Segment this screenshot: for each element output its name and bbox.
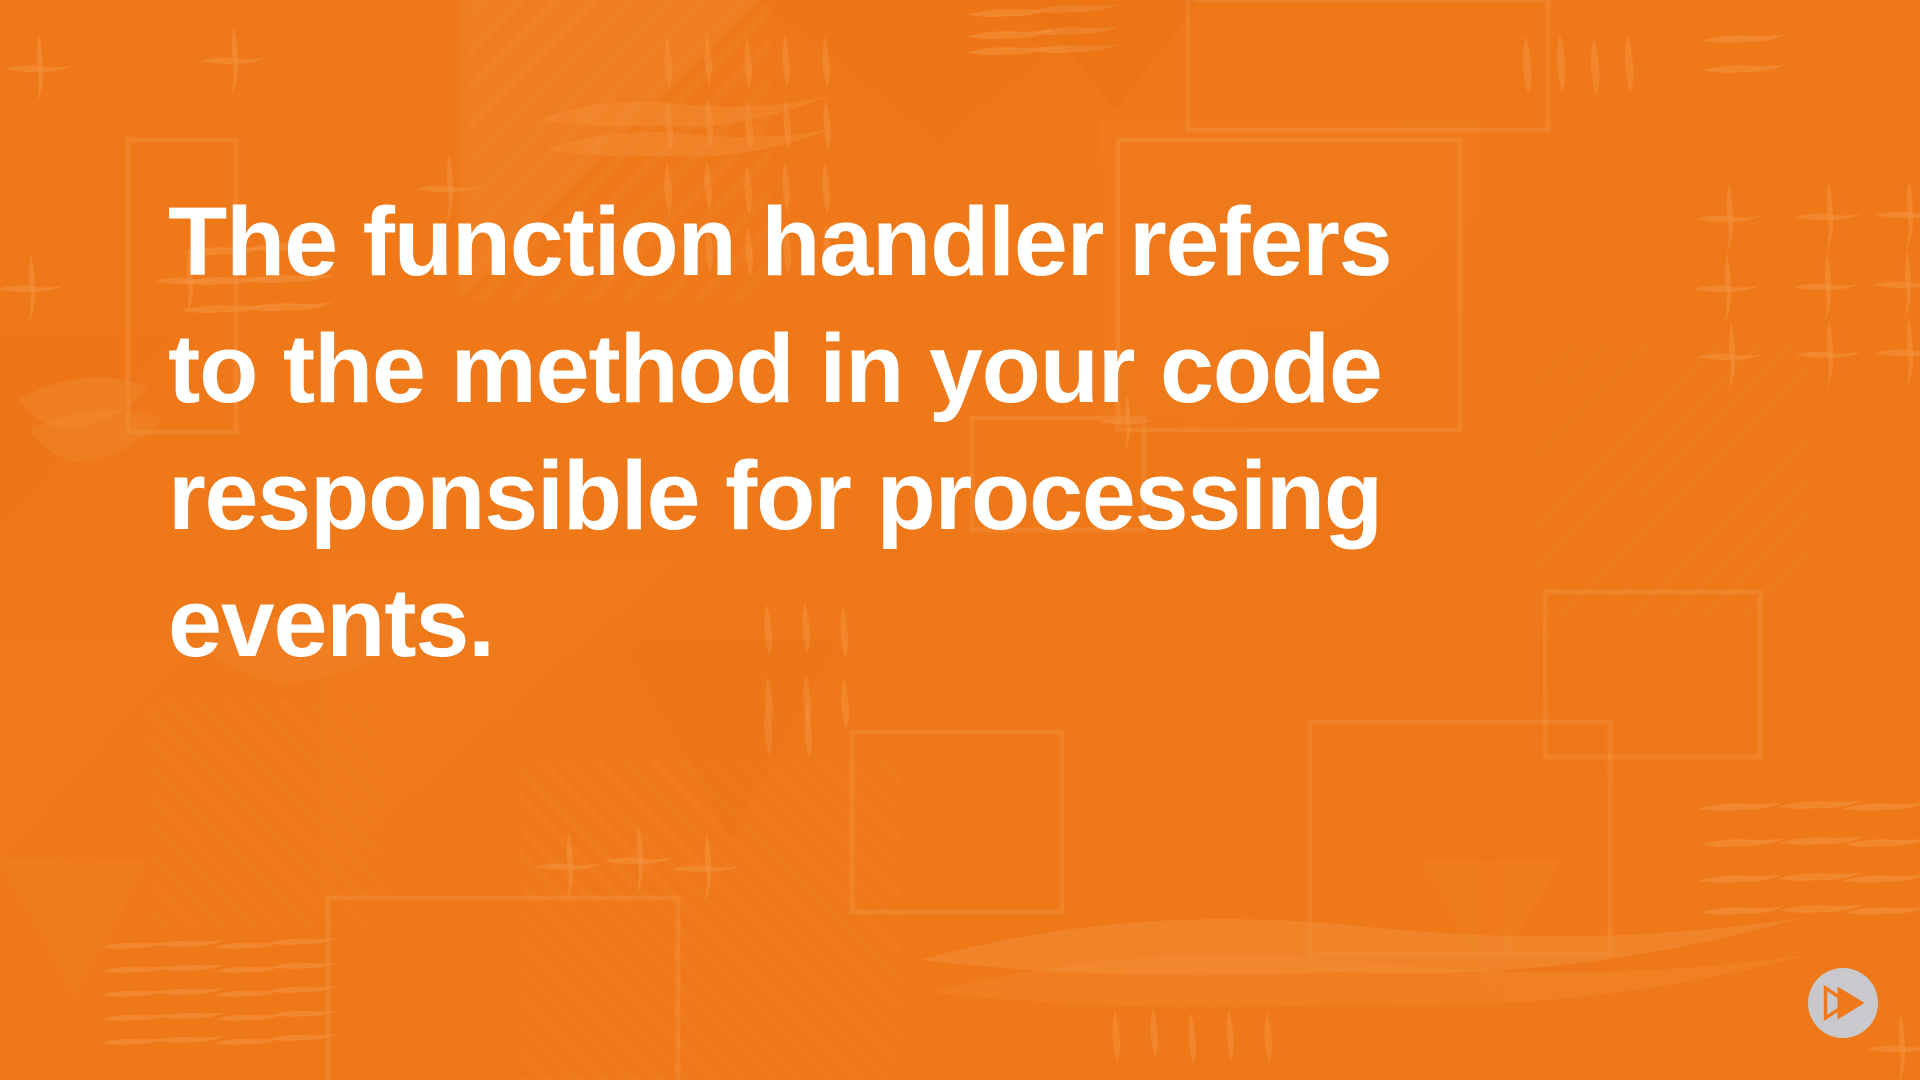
headline-line-2: to the method in your code — [168, 305, 1648, 432]
headline-line-4: events. — [168, 559, 1648, 686]
headline-text-block: The function handler refers to the metho… — [168, 178, 1648, 686]
pluralsight-logo — [1806, 966, 1880, 1040]
slide-canvas: The function handler refers to the metho… — [0, 0, 1920, 1080]
headline-line-1: The function handler refers — [168, 178, 1648, 305]
headline-line-3: responsible for processing — [168, 432, 1648, 559]
pluralsight-logo-icon — [1806, 966, 1880, 1040]
